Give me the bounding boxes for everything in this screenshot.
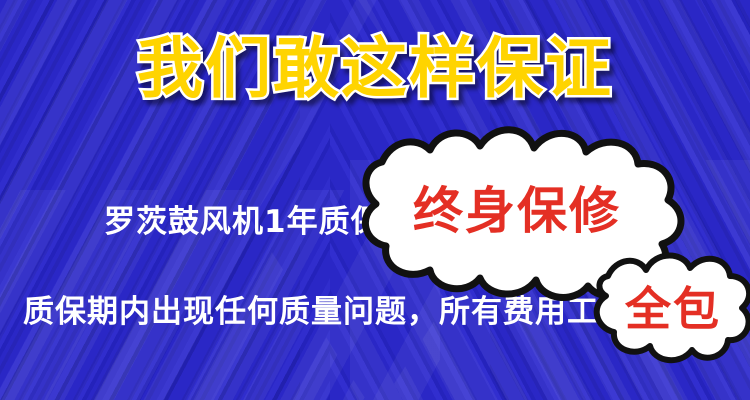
starburst-label-secondary: 全包 [594,246,750,366]
starburst-secondary-text: 全包 [625,273,721,339]
starburst-primary-text: 终身保修 [413,171,621,243]
banner-headline: 我们敢这样保证 [0,34,750,103]
promo-banner: 我们敢这样保证 罗茨鼓风机1年质保， 质保期内出现任何质量问题，所有费用工厂 终… [0,0,750,400]
